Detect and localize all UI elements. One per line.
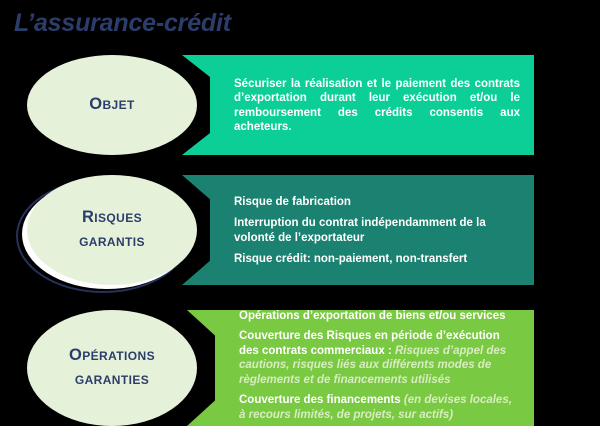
section-risques-garantis: Risque de fabricationInterruption du con… — [0, 175, 600, 285]
section-objet-label: Objet — [27, 55, 197, 155]
section-label-line: garantis — [79, 230, 145, 254]
panel-text-run: Opérations d’exportation de biens et/ou … — [239, 310, 506, 322]
slide-canvas: L’assurance-crédit Sécuriser la réalisat… — [0, 0, 600, 426]
section-risques-garantis-panel: Risque de fabricationInterruption du con… — [182, 175, 534, 285]
section-risques-garantis-label: Risquesgarantis — [27, 175, 197, 285]
section-label-line: Risques — [82, 206, 142, 230]
section-operations-garanties: Opérations d’exportation de biens et/ou … — [0, 310, 600, 426]
panel-text-item: Opérations d’exportation de biens et/ou … — [239, 309, 520, 323]
panel-text-run: : — [385, 345, 395, 357]
panel-text-run: Couverture des financements — [239, 394, 401, 406]
panel-text-run: Risque de fabrication — [234, 196, 351, 208]
panel-text-item: Risque crédit: non-paiement, non-transfe… — [234, 252, 520, 266]
section-operations-garanties-panel: Opérations d’exportation de biens et/ou … — [187, 310, 534, 426]
page-title: L’assurance-crédit — [14, 9, 231, 38]
section-objet: Sécuriser la réalisation et le paiement … — [0, 55, 600, 155]
panel-text-item: Sécuriser la réalisation et le paiement … — [234, 77, 520, 135]
section-operations-garanties-label: Opérationsgaranties — [27, 310, 197, 426]
section-label-line: garanties — [75, 368, 149, 392]
panel-text-item: Interruption du contrat indépendamment d… — [234, 216, 520, 245]
panel-text-run: Sécuriser la réalisation et le paiement … — [234, 78, 520, 133]
panel-text-run: Interruption du contrat indépendamment d… — [234, 217, 486, 243]
panel-text-item: Couverture des financements (en devises … — [239, 393, 520, 422]
section-objet-panel: Sécuriser la réalisation et le paiement … — [182, 55, 534, 155]
panel-text-item: Couverture des Risques en période d’exéc… — [239, 329, 520, 387]
section-label-line: Objet — [89, 93, 135, 117]
panel-text-run: Risque crédit: non-paiement, non-transfe… — [234, 253, 467, 265]
panel-text-item: Risque de fabrication — [234, 195, 520, 209]
section-label-line: Opérations — [69, 344, 155, 368]
